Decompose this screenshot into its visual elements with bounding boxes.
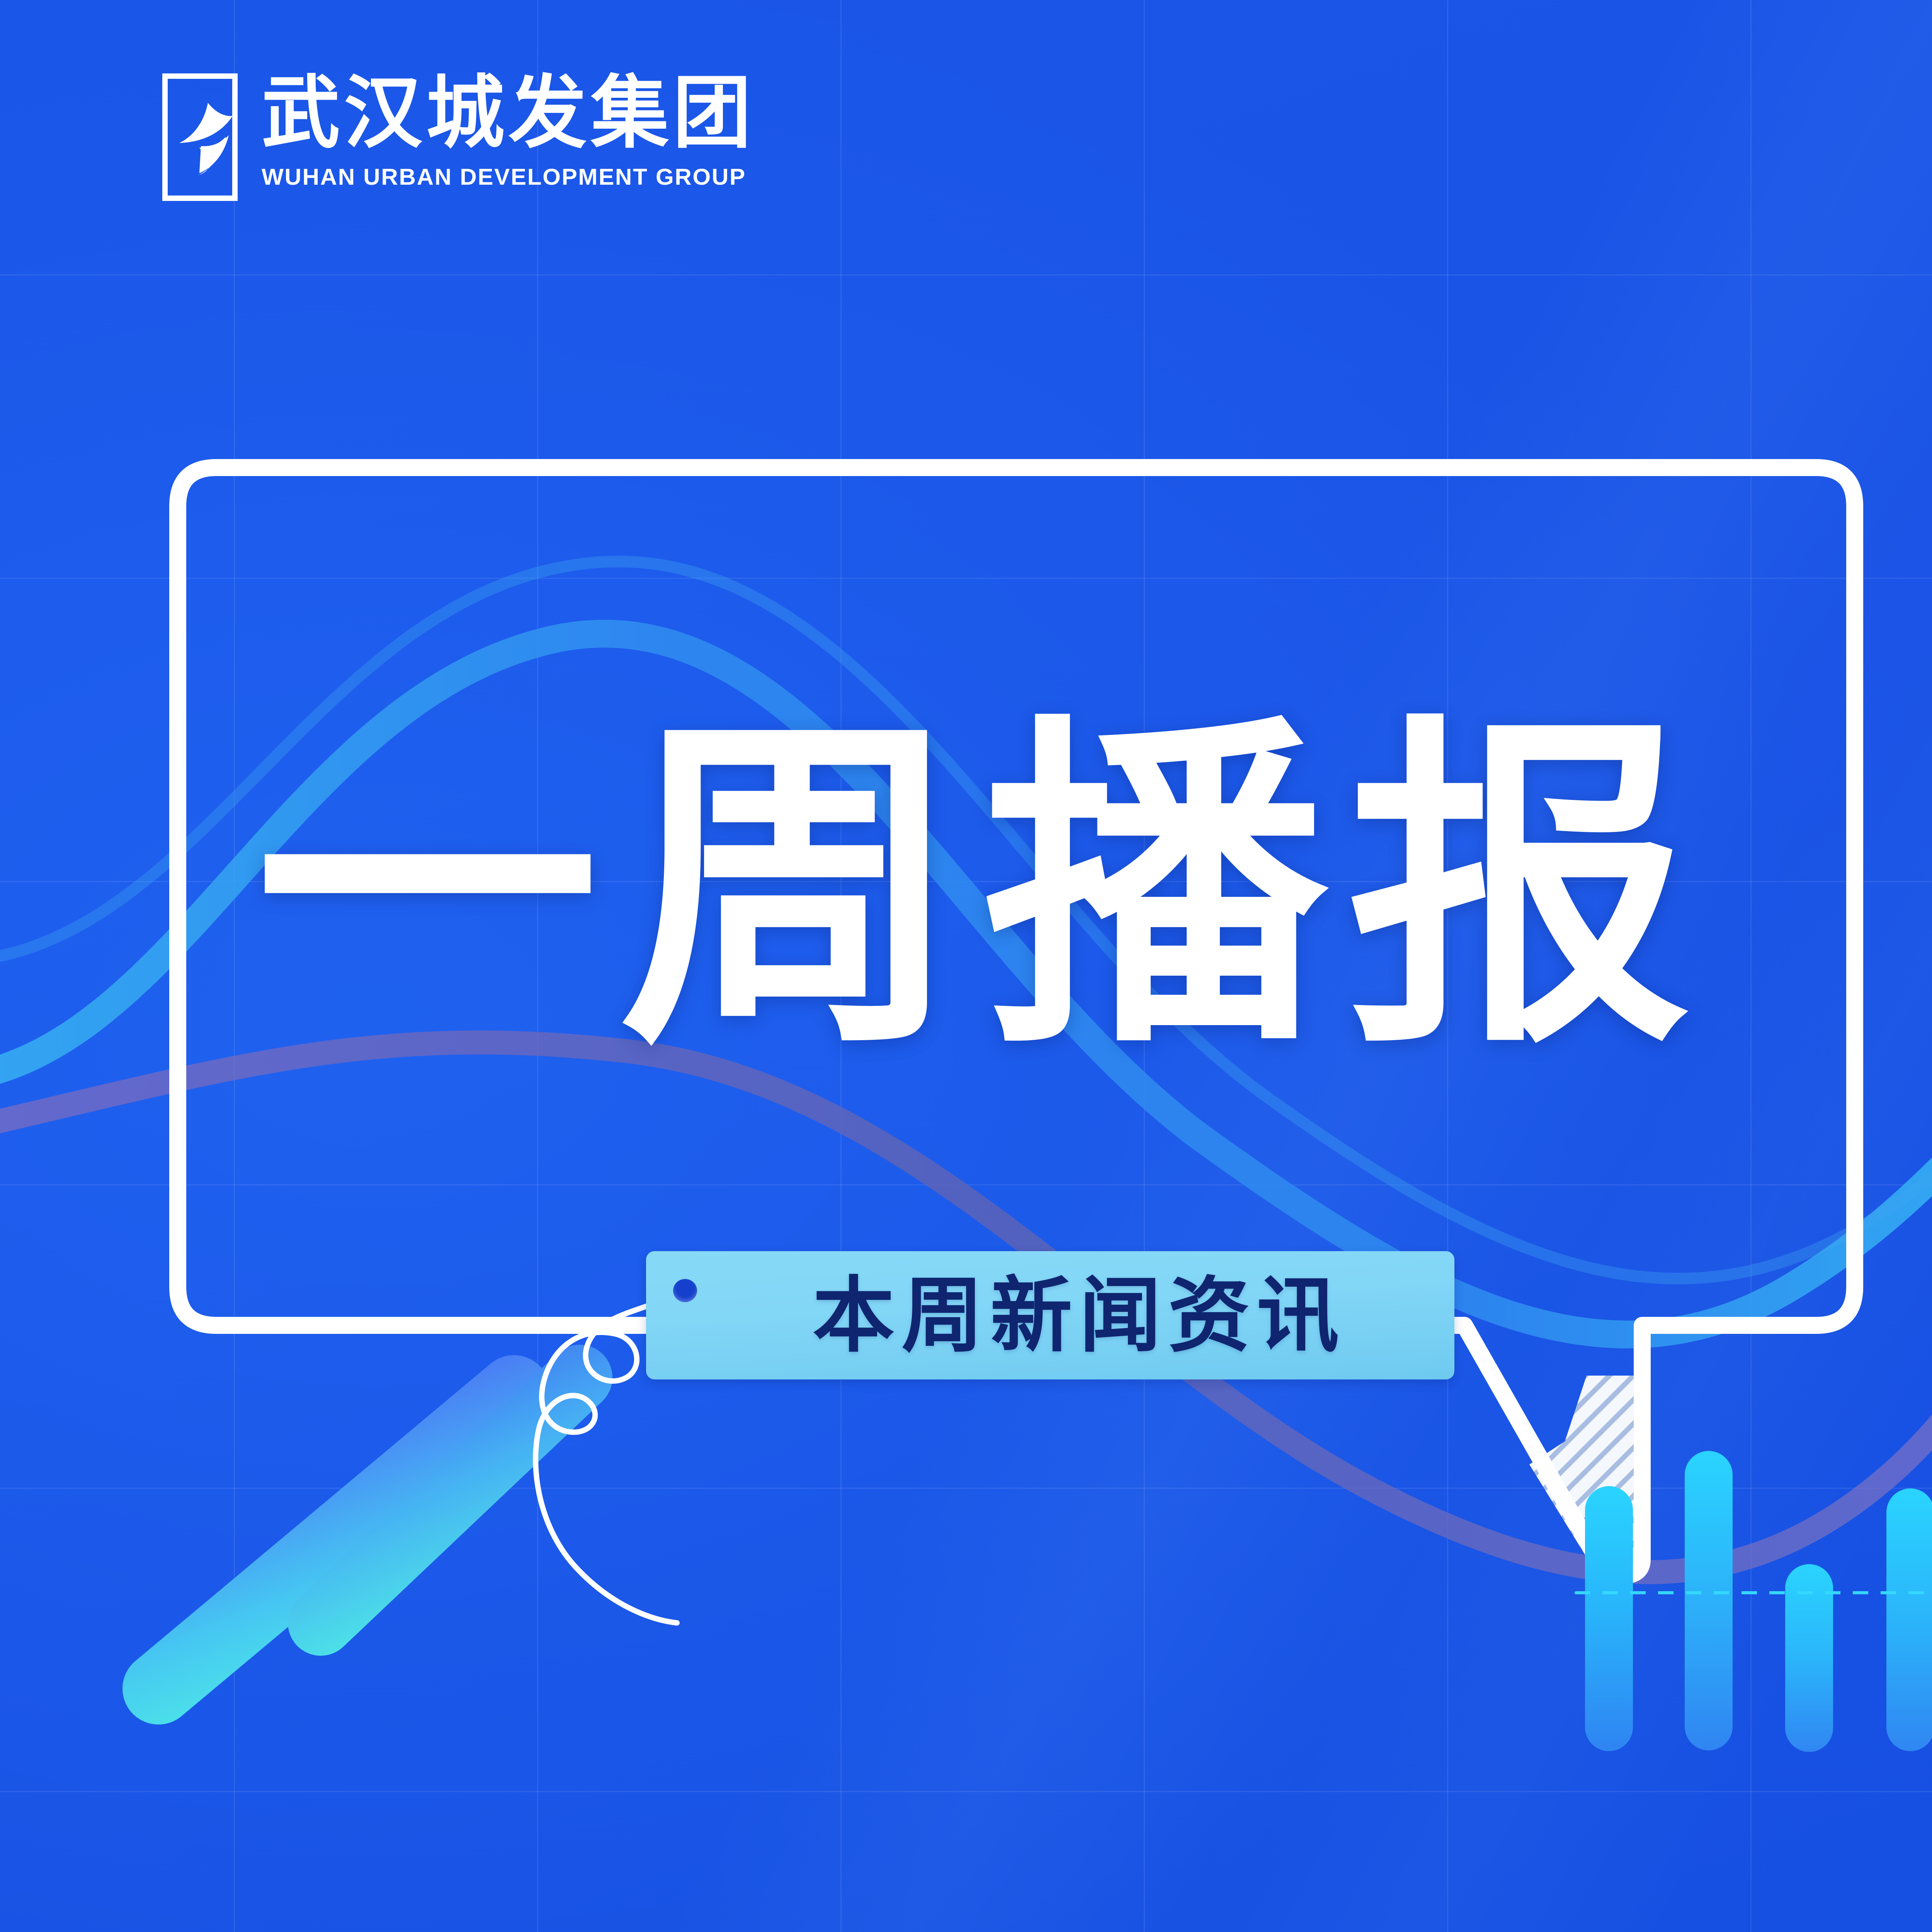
poster-canvas: 武汉城发集团 WUHAN URBAN DEVELOPMENT GROUP 一周播… — [0, 0, 1932, 1932]
page-title: 一周播报 — [255, 680, 1839, 1094]
chart-bar — [1685, 1451, 1733, 1750]
chart-bar — [1886, 1488, 1932, 1751]
chart-bar — [1585, 1486, 1633, 1751]
logo-chinese-name: 武汉城发集团 — [262, 73, 755, 153]
news-badge-label: 本周新闻资讯 — [755, 1274, 1346, 1356]
logo-english-name: WUHAN URBAN DEVELOPMENT GROUP — [262, 166, 770, 189]
logo-mark-icon — [162, 73, 238, 201]
chart-threshold-line — [1575, 1591, 1932, 1594]
news-badge[interactable]: 本周新闻资讯 — [646, 1251, 1454, 1379]
brand-logo: 武汉城发集团 WUHAN URBAN DEVELOPMENT GROUP — [162, 73, 760, 201]
badge-eyelet-icon — [673, 1279, 697, 1302]
logo-wordmark: 武汉城发集团 WUHAN URBAN DEVELOPMENT GROUP — [262, 73, 760, 189]
